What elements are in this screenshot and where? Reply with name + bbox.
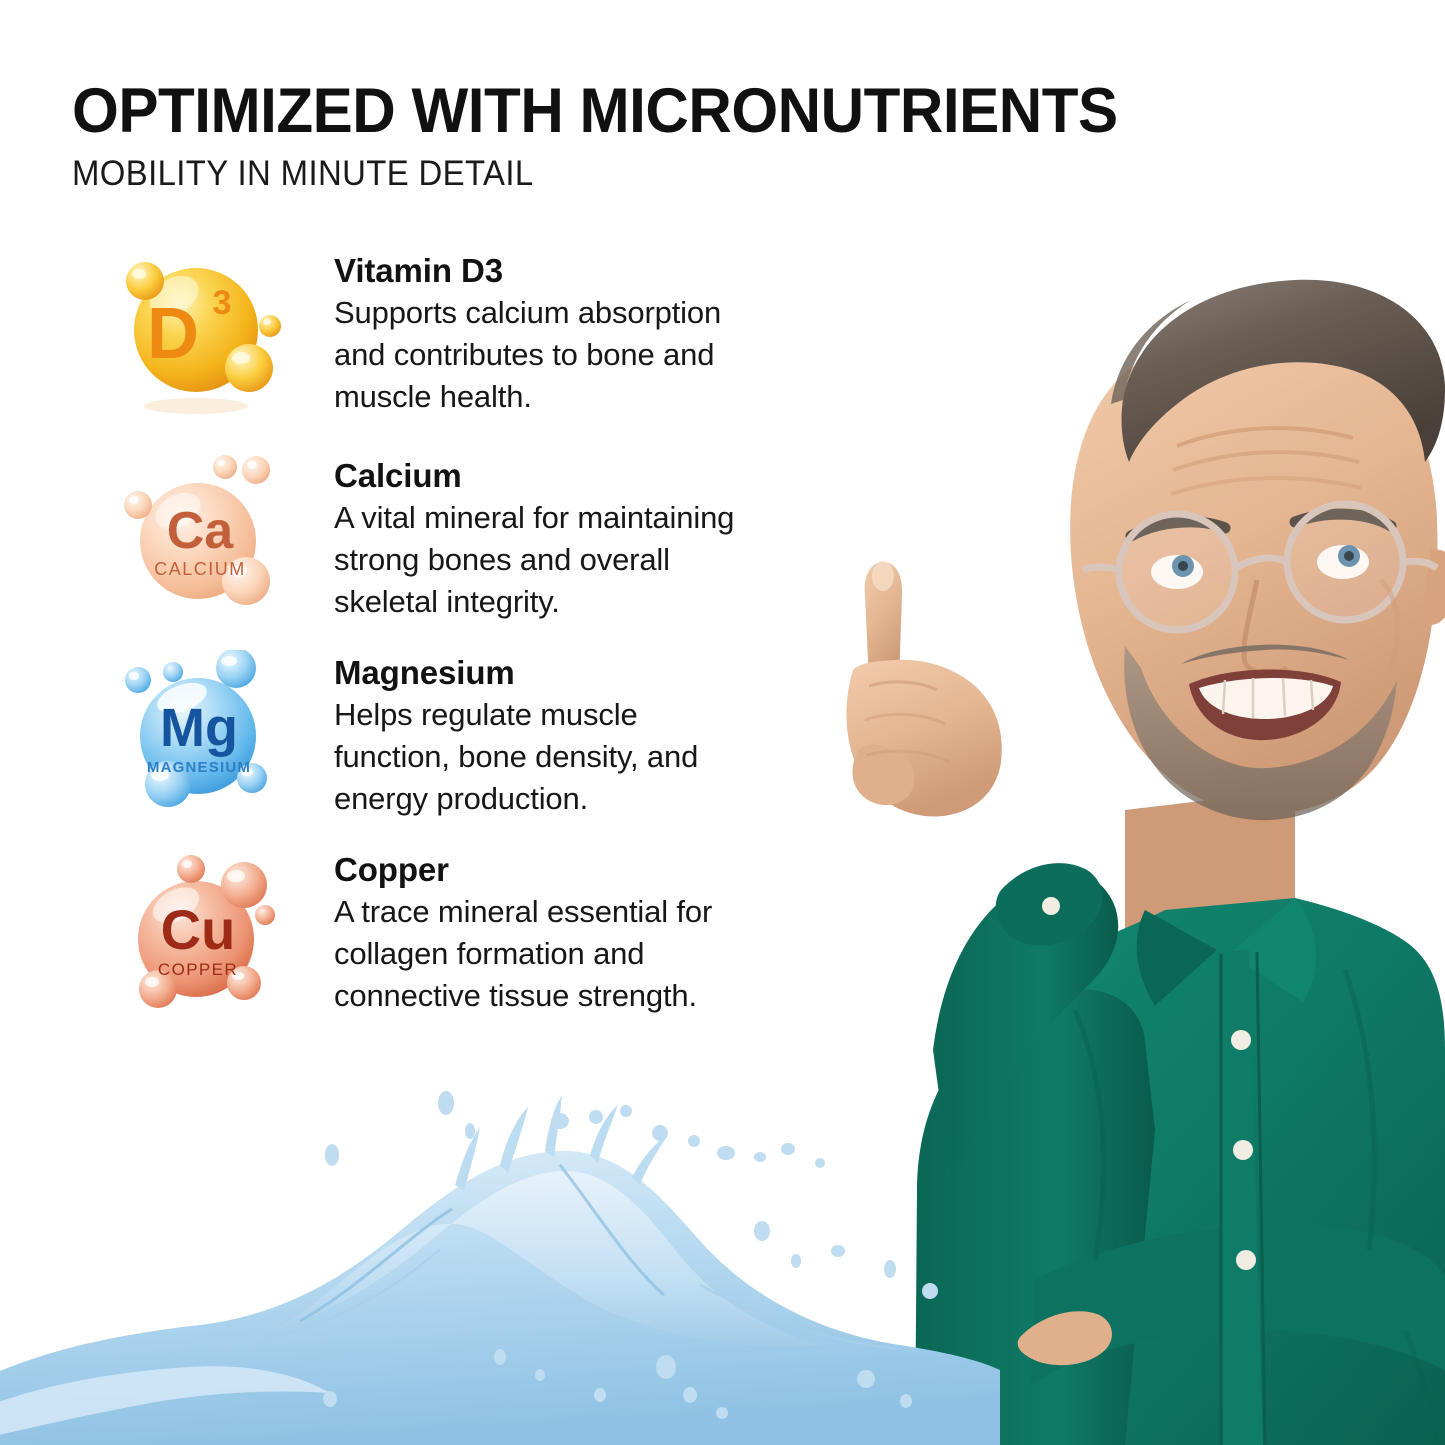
man-pointing-up-photo	[825, 250, 1445, 1445]
header: OPTIMIZED WITH MICRONUTRIENTS MOBILITY I…	[72, 78, 1392, 194]
svg-text:D: D	[147, 294, 199, 374]
nutrient-title: Vitamin D3	[334, 250, 862, 292]
magnesium-molecule-icon: Mg MAGNESIUM	[118, 650, 288, 825]
pointing-hand	[847, 561, 1002, 816]
nutrient-icon-cell: Cu COPPER	[72, 847, 334, 1022]
copper-symbol: Cu	[161, 898, 236, 961]
copper-caption: COPPER	[158, 960, 238, 979]
nutrient-title: Copper	[334, 849, 862, 891]
nutrient-description: Helps regulate muscle function, bone den…	[334, 694, 862, 820]
calcium-caption: CALCIUM	[154, 559, 246, 579]
page-title: OPTIMIZED WITH MICRONUTRIENTS	[72, 78, 1333, 144]
calcium-molecule-icon: Ca CALCIUM	[118, 453, 288, 628]
nutrient-description: A trace mineral essential for collagen f…	[334, 891, 862, 1017]
nutrient-icon-cell: Mg MAGNESIUM	[72, 650, 334, 825]
nutrient-item-magnesium: Mg MAGNESIUM Magnesium Helps regulate mu…	[72, 650, 862, 825]
nutrient-icon-cell: Ca CALCIUM	[72, 453, 334, 628]
nutrient-icon-cell: D 3	[72, 248, 334, 423]
head	[1070, 280, 1445, 950]
vitamin-d3-molecule-icon: D 3	[118, 248, 288, 423]
nutrient-description: Supports calcium absorption and contribu…	[334, 292, 862, 418]
magnesium-symbol: Mg	[160, 698, 238, 758]
nutrient-item-copper: Cu COPPER Copper A trace mineral essenti…	[72, 847, 862, 1022]
calcium-symbol: Ca	[167, 502, 235, 560]
promo-layout: OPTIMIZED WITH MICRONUTRIENTS MOBILITY I…	[0, 0, 1445, 1445]
nutrient-description: A vital mineral for maintaining strong b…	[334, 497, 862, 623]
nutrient-text-cell: Vitamin D3 Supports calcium absorption a…	[334, 248, 862, 418]
nutrient-list: D 3 Vitamin D3 Supports calcium absorpti…	[72, 248, 862, 1022]
nutrient-item-vitamin-d3: D 3 Vitamin D3 Supports calcium absorpti…	[72, 248, 862, 423]
nutrient-title: Magnesium	[334, 652, 862, 694]
copper-molecule-icon: Cu COPPER	[118, 847, 288, 1022]
nutrient-text-cell: Calcium A vital mineral for maintaining …	[334, 453, 862, 623]
nutrient-item-calcium: Ca CALCIUM Calcium A vital mineral for m…	[72, 453, 862, 628]
nutrient-text-cell: Copper A trace mineral essential for col…	[334, 847, 862, 1017]
nutrient-title: Calcium	[334, 455, 862, 497]
green-shirt	[915, 863, 1445, 1445]
nutrient-text-cell: Magnesium Helps regulate muscle function…	[334, 650, 862, 820]
page-subtitle: MOBILITY IN MINUTE DETAIL	[72, 154, 1313, 194]
magnesium-caption: MAGNESIUM	[147, 759, 251, 776]
svg-text:3: 3	[213, 284, 232, 322]
